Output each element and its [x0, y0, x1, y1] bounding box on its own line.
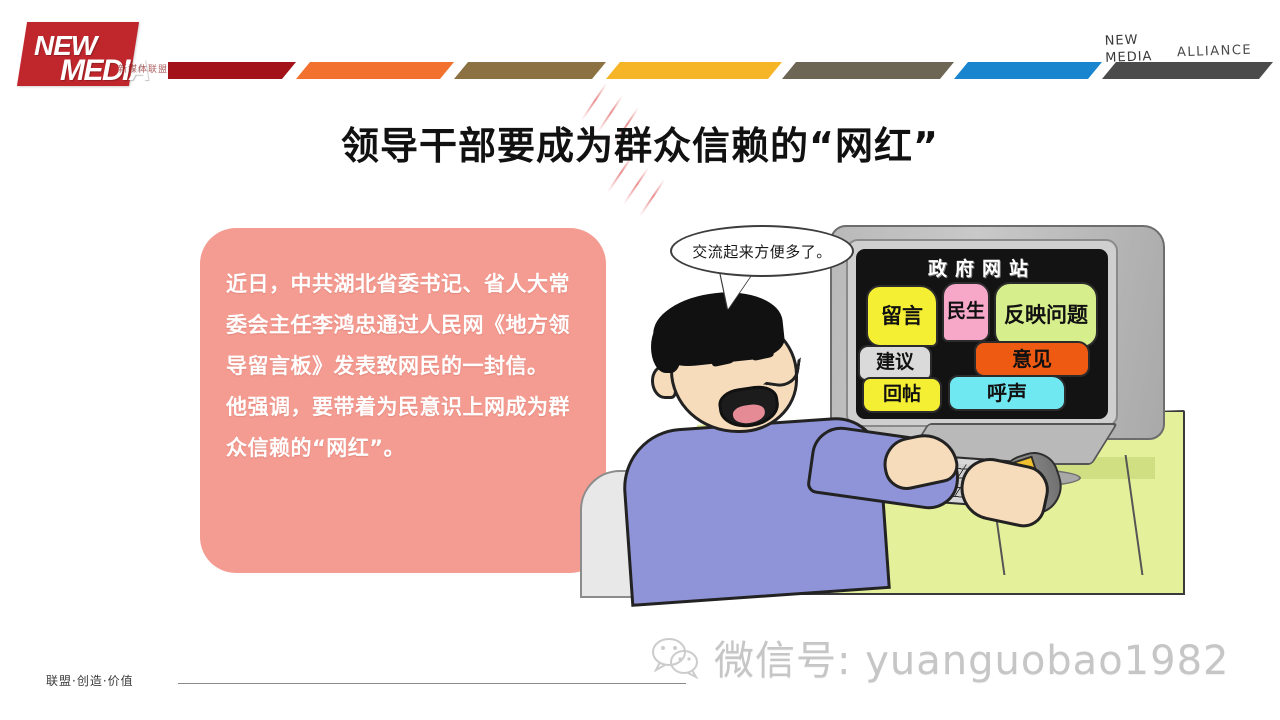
screen-tag-label: 呼声 [953, 383, 1061, 404]
cartoon-illustration: 政府网站 留言民生反映问题建议意见回帖呼声 交流起来方便多了。 [615, 205, 1185, 595]
wechat-watermark: 微信号: yuanguobao1982 [650, 628, 1229, 686]
slide-root: NEW MEDIA 新媒体联盟 NEW MEDIA ALLIANCE 领导干部要… [0, 0, 1280, 720]
footer-slogan: 联盟·创造·价值 [46, 672, 134, 689]
footer-divider [178, 683, 686, 684]
wechat-watermark-text: 微信号: yuanguobao1982 [714, 628, 1229, 686]
screen-tag-label: 留言 [871, 305, 933, 327]
screen-tag-呼声: 呼声 [948, 375, 1066, 411]
wechat-icon [650, 635, 702, 679]
monitor-bezel: 政府网站 留言民生反映问题建议意见回帖呼声 [846, 239, 1118, 427]
screen-tag-反映问题: 反映问题 [994, 282, 1098, 348]
screen-tag-label: 反映问题 [999, 304, 1093, 326]
screen-title: 政府网站 [856, 254, 1108, 281]
pink-card-paragraph-1: 近日，中共湖北省委书记、省人大常委会主任李鸿忠通过人民网《地方领导留言板》发表致… [226, 264, 582, 387]
screen-tag-民生: 民生 [942, 282, 990, 342]
colorbar-segment-blue [954, 62, 1102, 79]
page-title: 领导干部要成为群众信赖的“网红” [0, 115, 1280, 170]
streak-line [623, 167, 649, 205]
screen-tag-label: 意见 [979, 349, 1085, 370]
person-sideburn [651, 321, 681, 373]
screen-tag-意见: 意见 [974, 341, 1090, 377]
pink-card-body: 近日，中共湖北省委书记、省人大常委会主任李鸿忠通过人民网《地方领导留言板》发表致… [226, 264, 582, 469]
screen-tag-label: 民生 [947, 302, 985, 322]
screen-tag-label: 建议 [863, 353, 927, 373]
logo-text-chinese: 新媒体联盟 [118, 62, 168, 75]
pink-card-paragraph-2: 他强调，要带着为民意识上网成为群众信赖的“网红”。 [226, 387, 582, 469]
screen-tag-建议: 建议 [858, 345, 932, 381]
monitor-screen: 政府网站 留言民生反映问题建议意见回帖呼声 [856, 249, 1108, 419]
colorbar-segment-taupe [782, 62, 954, 79]
colorbar-segment-brown [454, 62, 606, 79]
screen-tag-回帖: 回帖 [862, 377, 942, 413]
colorbar-segment-gold [606, 62, 782, 79]
colorbar-segment-dark-red [168, 62, 296, 79]
screen-tag-label: 回帖 [867, 385, 937, 405]
monitor-body: 政府网站 留言民生反映问题建议意见回帖呼声 [830, 225, 1165, 440]
header-label-new: NEW [1104, 31, 1152, 50]
pink-text-card: 近日，中共湖北省委书记、省人大常委会主任李鸿忠通过人民网《地方领导留言板》发表致… [200, 228, 606, 573]
colorbar-segment-orange [296, 62, 454, 79]
speech-bubble-text: 交流起来方便多了。 [692, 241, 832, 262]
brand-logo: NEW MEDIA 新媒体联盟 [22, 22, 170, 86]
speech-bubble: 交流起来方便多了。 [670, 225, 854, 277]
header-label-media: MEDIA [1105, 48, 1153, 67]
screen-tag-留言: 留言 [866, 285, 938, 347]
header-label-newmedia: NEW MEDIA [1104, 31, 1152, 67]
header-label-alliance: ALLIANCE [1177, 43, 1253, 61]
